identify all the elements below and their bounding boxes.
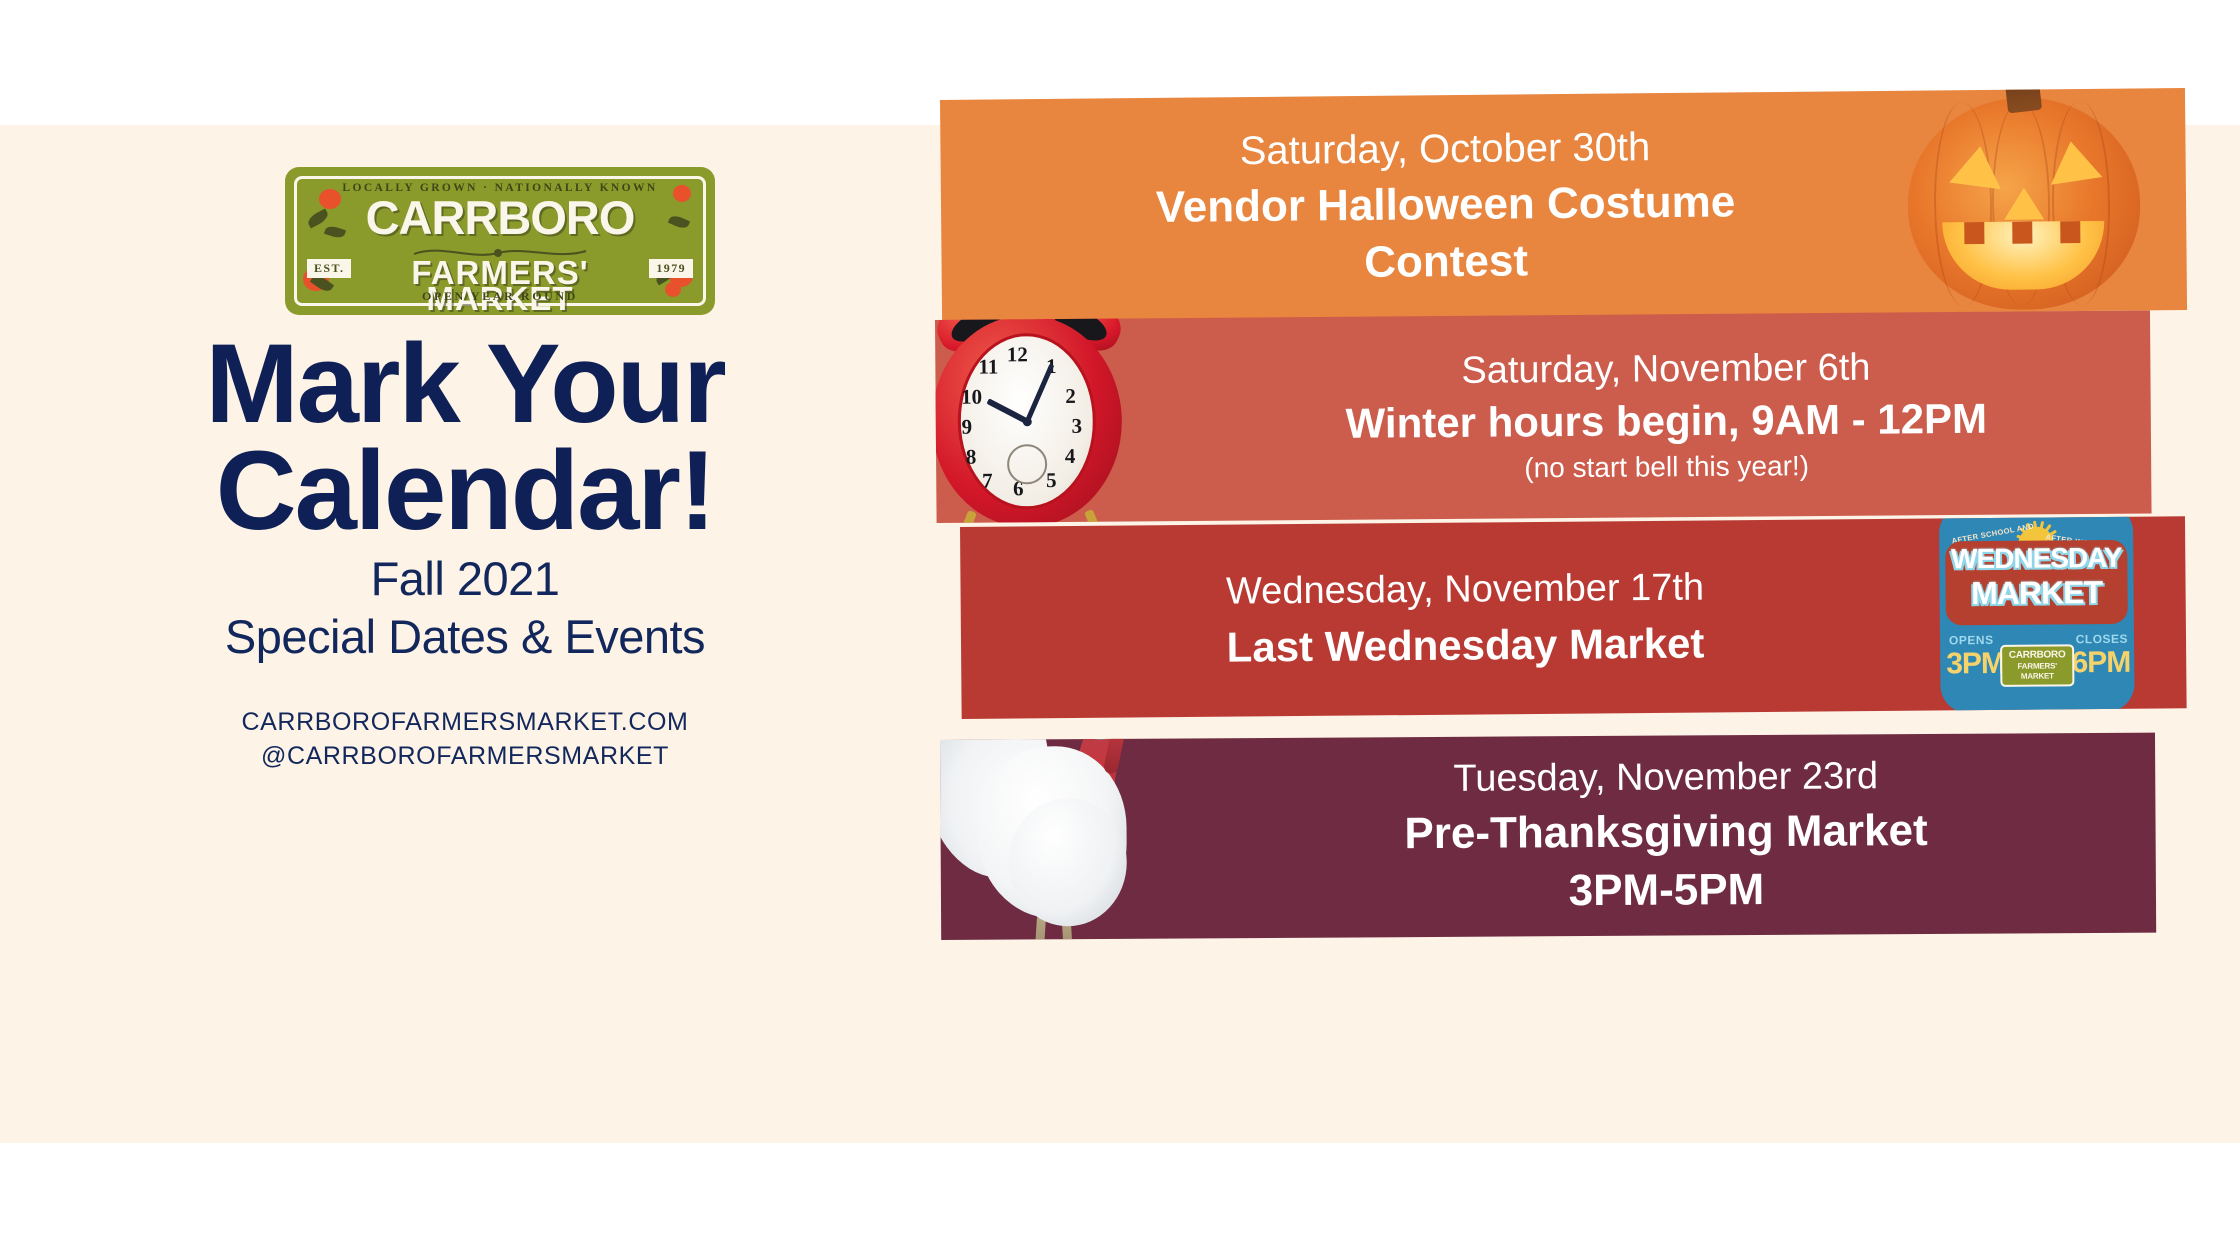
banner-title-line-1: Vendor Halloween Costume [955,171,1937,237]
badge-word-wednesday: WEDNESDAY [1939,542,2133,576]
clock-numeral: 9 [955,415,979,440]
badge-opens-label: OPENS [1949,633,1994,647]
poster-canvas: LOCALLY GROWN · NATIONALLY KNOWN CARRBOR… [0,0,2240,1260]
clock-numeral: 8 [959,445,983,470]
event-banner-last-wednesday-market[interactable]: Wednesday, November 17th Last Wednesday … [960,516,2187,719]
headline-line-2: Calendar! [216,428,715,553]
clock-numeral: 12 [1005,342,1029,367]
event-banner-winter-hours-begin[interactable]: 12 1 2 3 4 5 6 7 8 9 10 11 [935,310,2152,523]
badge-closes-time: 6PM [2071,646,2130,681]
clock-leg-right [1084,509,1112,523]
badge-word-market: MARKET [1939,574,2133,612]
pumpkin-tooth [1964,222,1984,244]
clock-numeral: 11 [976,354,1000,379]
banner-date: Saturday, November 6th [1195,341,2136,398]
turkey-breast [1008,798,1127,927]
banner-title-line-2: Contest [955,228,1937,294]
page-headline: Mark Your Calendar! [0,330,930,544]
subhead-line-1: Fall 2021 [371,552,560,605]
logo-name-carrboro: CARRBORO [285,191,715,245]
clock-numeral: 7 [975,469,999,494]
badge-closes-label: CLOSES [2076,632,2128,646]
badge-logo-line-3: MARKET [2002,671,2072,681]
event-banner-halloween-costume-contest[interactable]: Saturday, October 30th Vendor Halloween … [940,88,2187,322]
clock-numeral: 2 [1059,384,1083,409]
logo-plate: LOCALLY GROWN · NATIONALLY KNOWN CARRBOR… [285,167,715,315]
banner-date: Tuesday, November 23rd [1190,749,2141,807]
pumpkin-nose [2004,187,2044,219]
banner-title-line-1: Pre-Thanksgiving Market [1190,801,2141,865]
clock-center-pin [1023,417,1032,426]
clock-leg-left [949,510,976,523]
clock-face: 12 1 2 3 4 5 6 7 8 9 10 11 [957,333,1096,510]
wednesday-market-badge-icon: AFTER SCHOOL AND AFTER-WORK STOP WEDNESD… [1939,516,2135,713]
banner-date: Saturday, October 30th [954,117,1935,180]
badge-market-logo: CARRBORO FARMERS' MARKET [2000,644,2074,687]
website-url[interactable]: CARRBOROFARMERSMARKET.COM [242,708,689,736]
banner-title-line-2: 3PM-5PM [1191,859,2142,923]
pumpkin-eye-left [1949,143,2006,189]
white-turkey-icon [940,733,1151,940]
jack-o-lantern-pumpkin-icon [1907,88,2141,311]
clock-numeral: 4 [1058,444,1082,469]
contact-block: CARRBOROFARMERSMARKET.COM @CARRBOROFARME… [0,705,930,773]
social-handle[interactable]: @CARRBOROFARMERSMARKET [261,742,669,770]
banner-title-line-1: Last Wednesday Market [975,612,1956,679]
left-column: LOCALLY GROWN · NATIONALLY KNOWN CARRBOR… [0,125,930,1143]
badge-logo-line-1: CARRBORO [2002,649,2072,661]
banner-note: (no start bell this year!) [1196,444,2137,491]
event-banner-pre-thanksgiving-market[interactable]: Tuesday, November 23rd Pre-Thanksgiving … [940,733,2156,940]
page-subhead: Fall 2021 Special Dates & Events [0,550,930,666]
pumpkin-eye-right [2045,137,2102,184]
banner-date: Wednesday, November 17th [974,558,1955,621]
pumpkin-tooth [2012,222,2032,244]
badge-opens-time: 3PM [1946,647,2005,682]
red-alarm-clock-icon: 12 1 2 3 4 5 6 7 8 9 10 11 [935,310,1135,523]
banner-title-line-1: Winter hours begin, 9AM - 12PM [1196,391,2137,451]
pumpkin-tooth [2060,221,2080,243]
badge-logo-line-2: FARMERS' [2002,661,2072,671]
clock-numeral: 3 [1065,414,1089,439]
logo-tagline-bottom: OPEN YEAR ROUND [285,289,715,304]
clock-subdial [1007,444,1047,484]
clock-numeral: 10 [960,385,984,410]
pumpkin-stem [2004,88,2042,113]
subhead-line-2: Special Dates & Events [225,610,705,663]
carrboro-farmers-market-logo: LOCALLY GROWN · NATIONALLY KNOWN CARRBOR… [285,167,715,315]
